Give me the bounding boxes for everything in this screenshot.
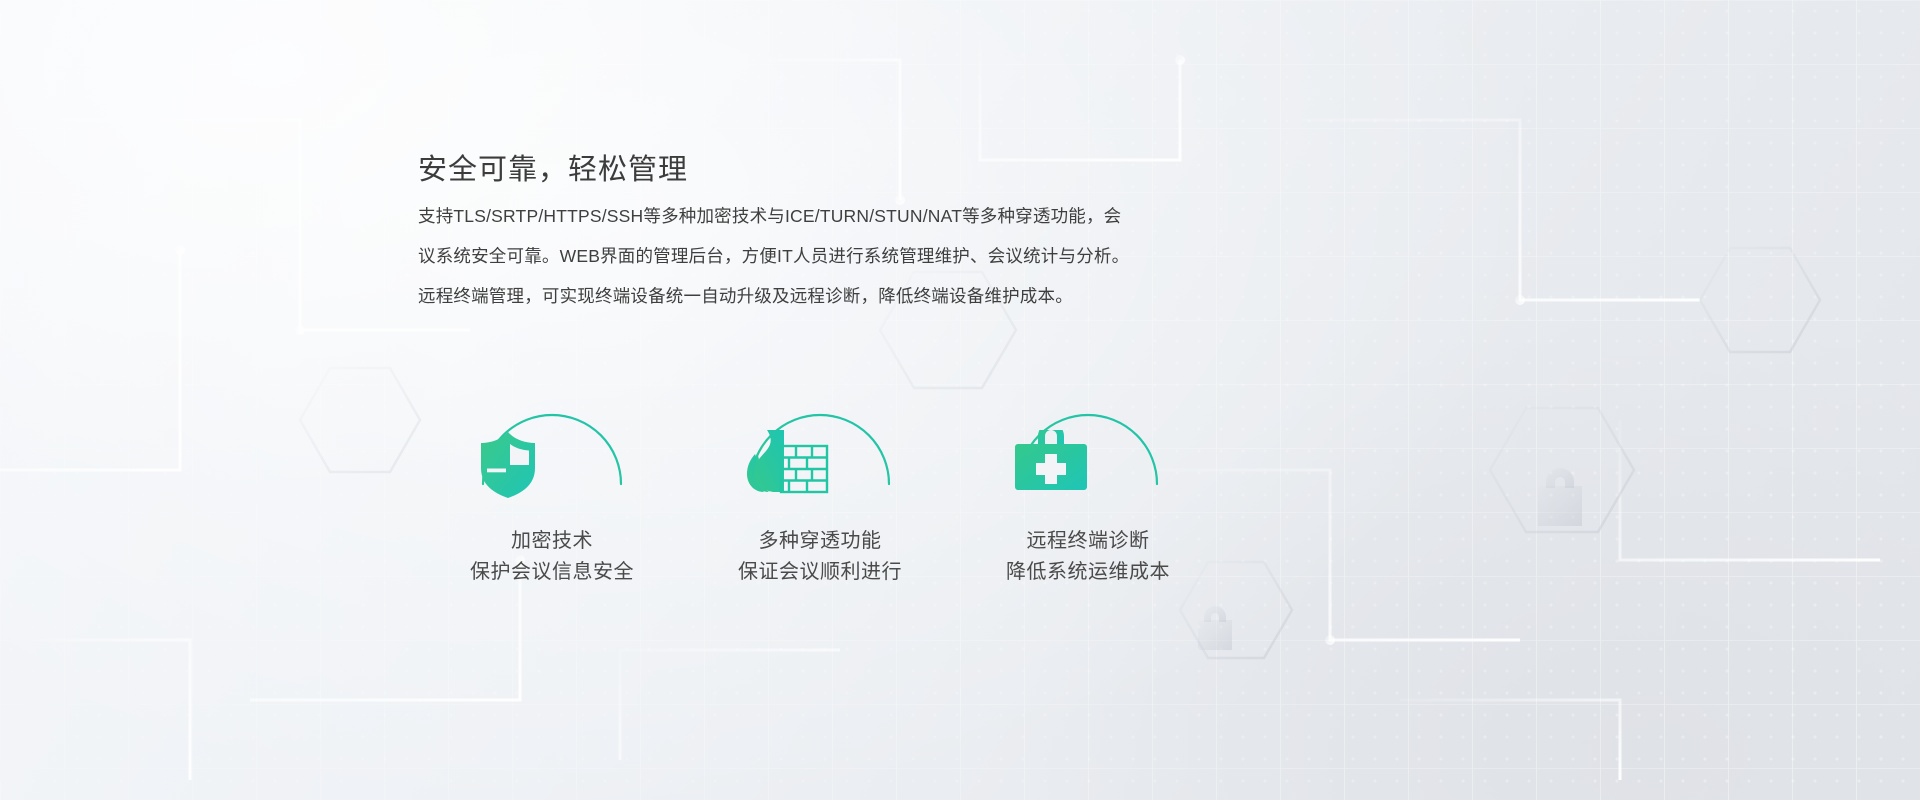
feature-item-remote-diagnosis: 远程终端诊断 降低系统运维成本 (954, 392, 1222, 612)
feature-caption-line-2: 保护会议信息安全 (470, 557, 634, 588)
feature-item-traversal: 多种穿透功能 保证会议顺利进行 (686, 392, 954, 612)
medical-kit-icon (1013, 430, 1089, 492)
shield-icon (477, 430, 539, 500)
feature-caption-line-2: 降低系统运维成本 (1006, 557, 1170, 588)
hero-description-line-1: 支持TLS/SRTP/HTTPS/SSH等多种加密技术与ICE/TURN/STU… (418, 196, 1218, 236)
page-title: 安全可靠，轻松管理 (418, 146, 688, 188)
hero-description-line-2: 议系统安全可靠。WEB界面的管理后台，方便IT人员进行系统管理维护、会议统计与分… (418, 236, 1218, 276)
feature-list: 加密技术 保护会议信息安全 (418, 392, 1222, 612)
feature-caption: 多种穿透功能 保证会议顺利进行 (738, 526, 902, 588)
hero-description-line-3: 远程终端管理，可实现终端设备统一自动升级及远程诊断，降低终端设备维护成本。 (418, 276, 1218, 316)
hero-content: 安全可靠，轻松管理 支持TLS/SRTP/HTTPS/SSH等多种加密技术与IC… (0, 0, 1920, 800)
feature-arc-wrap (745, 392, 895, 500)
feature-arc-wrap (477, 392, 627, 500)
feature-caption-line-2: 保证会议顺利进行 (738, 557, 902, 588)
feature-arc-wrap (1013, 392, 1163, 500)
feature-caption-line-1: 远程终端诊断 (1027, 530, 1150, 552)
feature-caption: 远程终端诊断 降低系统运维成本 (1006, 526, 1170, 588)
feature-caption: 加密技术 保护会议信息安全 (470, 526, 634, 588)
feature-caption-line-1: 多种穿透功能 (759, 530, 882, 552)
feature-icon-slot (477, 430, 627, 500)
feature-item-encryption: 加密技术 保护会议信息安全 (418, 392, 686, 612)
feature-icon-slot (745, 430, 895, 500)
hero-banner: 安全可靠，轻松管理 支持TLS/SRTP/HTTPS/SSH等多种加密技术与IC… (0, 0, 1920, 800)
feature-caption-line-1: 加密技术 (511, 530, 593, 552)
feature-icon-slot (1013, 430, 1163, 500)
hero-description: 支持TLS/SRTP/HTTPS/SSH等多种加密技术与ICE/TURN/STU… (418, 196, 1218, 316)
firewall-icon (745, 430, 829, 494)
